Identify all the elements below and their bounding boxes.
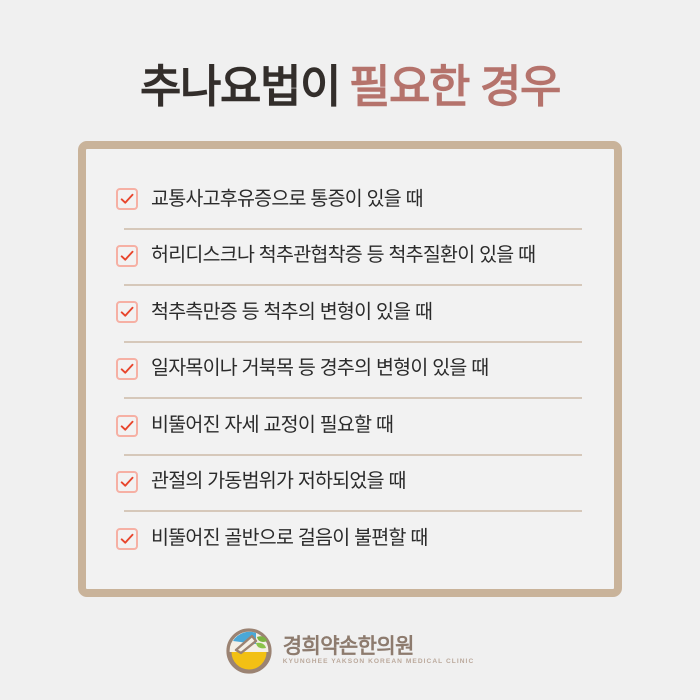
checklist-item-label: 교통사고후유증으로 통증이 있을 때 (151, 188, 423, 211)
checklist-item[interactable]: 척추측만증 등 척추의 변형이 있을 때 (116, 284, 586, 341)
page-title-accent: 필요한 경우 (349, 64, 560, 109)
checkbox-checked-icon[interactable] (116, 188, 138, 210)
clinic-logo-text: 경희약손한의원 KYUNGHEE YAKSON KOREAN MEDICAL C… (283, 636, 475, 666)
checklist: 교통사고후유증으로 통증이 있을 때허리디스크나 척추관협착증 등 척추질환이 … (86, 149, 614, 589)
checklist-panel: 교통사고후유증으로 통증이 있을 때허리디스크나 척추관협착증 등 척추질환이 … (78, 141, 622, 597)
checklist-item[interactable]: 비뚤어진 골반으로 걸음이 불편할 때 (116, 510, 586, 567)
checkbox-checked-icon[interactable] (116, 471, 138, 493)
checkbox-checked-icon[interactable] (116, 358, 138, 380)
mortar-and-pestle-icon (226, 628, 272, 674)
checklist-item-label: 비뚤어진 자세 교정이 필요할 때 (151, 414, 393, 437)
poster-root: 추나요법이 필요한 경우 교통사고후유증으로 통증이 있을 때허리디스크나 척추… (0, 0, 700, 700)
checklist-item-label: 척추측만증 등 척추의 변형이 있을 때 (151, 301, 432, 324)
clinic-logo: 경희약손한의원 KYUNGHEE YAKSON KOREAN MEDICAL C… (0, 622, 700, 680)
checklist-item-label: 허리디스크나 척추관협착증 등 척추질환이 있을 때 (151, 244, 535, 267)
checklist-item[interactable]: 비뚤어진 자세 교정이 필요할 때 (116, 397, 586, 454)
checklist-item[interactable]: 일자목이나 거북목 등 경추의 변형이 있을 때 (116, 341, 586, 398)
clinic-name-english: KYUNGHEE YAKSON KOREAN MEDICAL CLINIC (283, 659, 475, 666)
page-title-primary: 추나요법이 (140, 64, 340, 109)
checklist-item-label: 비뚤어진 골반으로 걸음이 불편할 때 (151, 527, 428, 550)
clinic-name: 경희약손한의원 (283, 636, 475, 657)
checklist-item[interactable]: 교통사고후유증으로 통증이 있을 때 (116, 171, 586, 228)
checkbox-checked-icon[interactable] (116, 301, 138, 323)
checkbox-checked-icon[interactable] (116, 415, 138, 437)
checklist-item[interactable]: 허리디스크나 척추관협착증 등 척추질환이 있을 때 (116, 228, 586, 285)
checkbox-checked-icon[interactable] (116, 528, 138, 550)
checklist-item[interactable]: 관절의 가동범위가 저하되었을 때 (116, 454, 586, 511)
checklist-item-label: 관절의 가동범위가 저하되었을 때 (151, 470, 406, 493)
checkbox-checked-icon[interactable] (116, 245, 138, 267)
page-title: 추나요법이 필요한 경우 (140, 55, 560, 117)
checklist-item-label: 일자목이나 거북목 등 경추의 변형이 있을 때 (151, 357, 488, 380)
